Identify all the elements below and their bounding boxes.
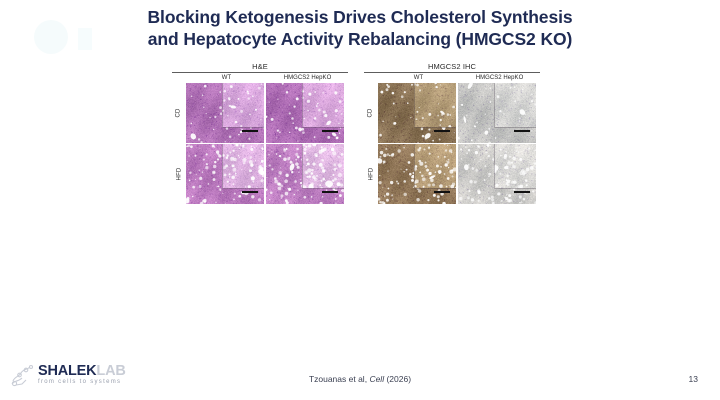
micrograph-ihc-cd-hepko[interactable]: [458, 83, 536, 143]
micrograph-he-hfd-wt-canvas: [186, 144, 264, 204]
logo-wordmark: SHALEKLAB: [38, 363, 126, 379]
micrograph-ihc-hfd-hepko-canvas: [458, 144, 536, 204]
logo-name-light: LAB: [96, 363, 125, 379]
image-row-hfd: HFD: [172, 144, 348, 204]
slide-canvas: Blocking Ketogenesis Drives Cholesterol …: [0, 0, 720, 400]
column-headers-h-and-e: WT HMGCS2 HepKO: [172, 75, 348, 83]
scale-bar: [434, 130, 450, 132]
micrograph-he-cd-hepko[interactable]: [266, 83, 344, 143]
micrograph-he-hfd-hepko[interactable]: [266, 144, 344, 204]
logo-tagline: from cells to systems: [38, 379, 121, 385]
shalek-lab-logo: SHALEKLAB from cells to systems: [10, 362, 140, 392]
image-row-cd: CD: [172, 83, 348, 143]
image-row-cd: CD: [364, 83, 540, 143]
panel-title-h-and-e: H&E: [172, 62, 348, 72]
page-number: 13: [689, 374, 698, 384]
scale-bar: [322, 191, 338, 193]
row-label-cd: CD: [364, 83, 378, 143]
image-rows-hmgcs2-ihc: CD HFD: [364, 83, 540, 204]
micrograph-ihc-hfd-wt-canvas: [378, 144, 456, 204]
column-header-hepko: HMGCS2 HepKO: [459, 75, 540, 83]
column-headers-hmgcs2-ihc: WT HMGCS2 HepKO: [364, 75, 540, 83]
panel-group-hmgcs2-ihc: HMGCS2 IHC WT HMGCS2 HepKO CD: [364, 62, 540, 205]
slide-title-line-1: Blocking Ketogenesis Drives Cholesterol …: [60, 6, 660, 28]
scale-bar: [514, 130, 530, 132]
panel-group-h-and-e: H&E WT HMGCS2 HepKO CD: [172, 62, 348, 205]
scale-bar: [322, 130, 338, 132]
scale-bar: [242, 191, 258, 193]
micrograph-ihc-cd-wt[interactable]: [378, 83, 456, 143]
row-label-cd-text: CD: [368, 108, 374, 117]
logo-mark-icon: [10, 364, 36, 388]
scale-bar: [434, 191, 450, 193]
micrograph-he-cd-wt-canvas: [186, 83, 264, 143]
panel-rule-h-and-e: [172, 72, 348, 73]
scale-bar: [242, 130, 258, 132]
citation-year: (2026): [386, 374, 411, 384]
micrograph-he-cd-wt[interactable]: [186, 83, 264, 143]
micrograph-he-cd-hepko-canvas: [266, 83, 344, 143]
logo-name-bold: SHALEK: [38, 363, 96, 379]
citation-journal: Cell: [369, 374, 384, 384]
citation-authors: Tzouanas et al,: [309, 374, 367, 384]
column-header-hepko: HMGCS2 HepKO: [267, 75, 348, 83]
row-label-hfd: HFD: [364, 144, 378, 204]
row-label-hfd-text: HFD: [368, 168, 374, 181]
image-row-hfd: HFD: [364, 144, 540, 204]
image-rows-h-and-e: CD HFD: [172, 83, 348, 204]
micrograph-he-hfd-wt[interactable]: [186, 144, 264, 204]
slide-title: Blocking Ketogenesis Drives Cholesterol …: [60, 6, 660, 50]
row-label-hfd-text: HFD: [176, 168, 182, 181]
panel-title-hmgcs2-ihc: HMGCS2 IHC: [364, 62, 540, 72]
column-header-wt: WT: [378, 75, 459, 83]
row-label-cd-text: CD: [176, 108, 182, 117]
slide-title-line-2: and Hepatocyte Activity Rebalancing (HMG…: [60, 28, 660, 50]
micrograph-ihc-hfd-hepko[interactable]: [458, 144, 536, 204]
column-header-wt: WT: [186, 75, 267, 83]
micrograph-ihc-hfd-wt[interactable]: [378, 144, 456, 204]
row-label-hfd: HFD: [172, 144, 186, 204]
panel-rule-hmgcs2-ihc: [364, 72, 540, 73]
row-label-cd: CD: [172, 83, 186, 143]
micrograph-he-hfd-hepko-canvas: [266, 144, 344, 204]
micrograph-ihc-cd-hepko-canvas: [458, 83, 536, 143]
figure-container: H&E WT HMGCS2 HepKO CD: [172, 62, 544, 212]
scale-bar: [514, 191, 530, 193]
micrograph-ihc-cd-wt-canvas: [378, 83, 456, 143]
